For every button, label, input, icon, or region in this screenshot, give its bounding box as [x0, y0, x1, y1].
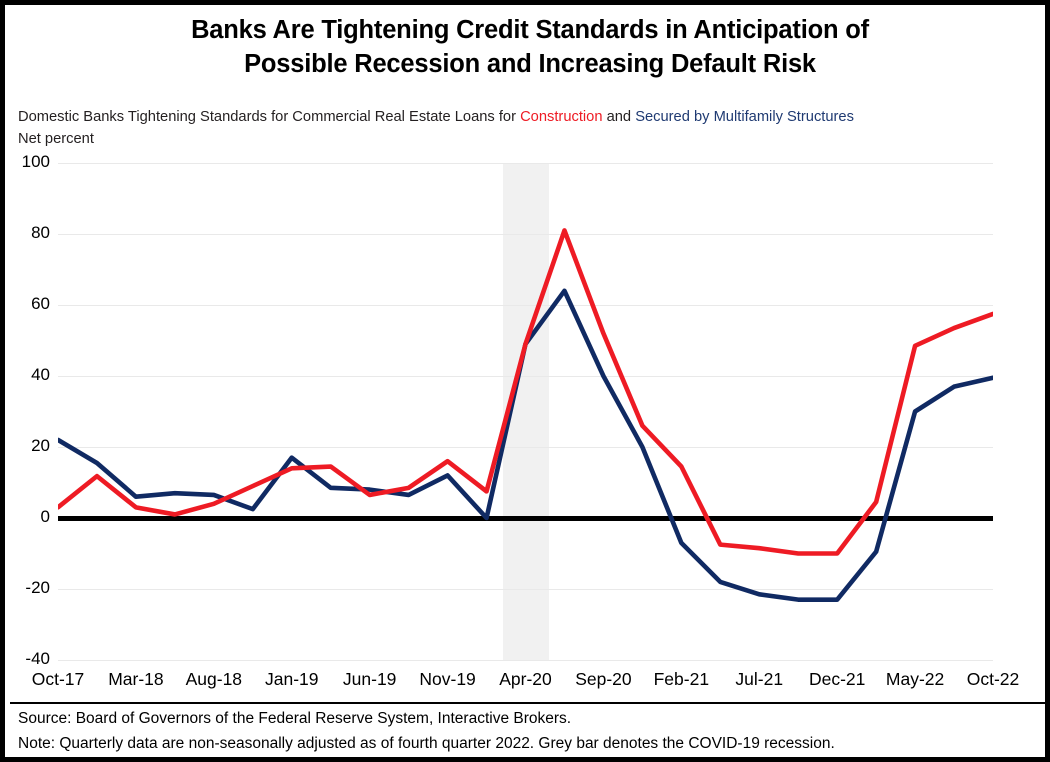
legend-label-multifamily: Secured by Multifamily Structures	[635, 109, 854, 125]
x-tick-label-nov-19: Nov-19	[419, 669, 475, 690]
x-tick-label-oct-22: Oct-22	[967, 669, 1020, 690]
series-lines	[58, 163, 993, 660]
chart-footer: Source: Board of Governors of the Federa…	[18, 706, 1038, 756]
x-tick-label-oct-17: Oct-17	[32, 669, 85, 690]
y-tick-label-100: 100	[5, 152, 50, 172]
y-tick-label--20: -20	[5, 578, 50, 598]
legend-label-construction: Construction	[520, 109, 602, 125]
footer-source: Source: Board of Governors of the Federa…	[18, 706, 1038, 731]
x-tick-label-sep-20: Sep-20	[575, 669, 631, 690]
x-tick-label-mar-18: Mar-18	[108, 669, 163, 690]
chart-title: Banks Are Tightening Credit Standards in…	[5, 13, 1050, 81]
y-axis-unit-label: Net percent	[18, 131, 94, 147]
line-series-construction	[58, 230, 993, 553]
x-tick-label-jul-21: Jul-21	[735, 669, 783, 690]
y-tick-label-60: 60	[5, 294, 50, 314]
y-axis: -40-20020406080100	[5, 155, 58, 675]
y-tick-label-0: 0	[5, 507, 50, 527]
x-tick-label-jan-19: Jan-19	[265, 669, 319, 690]
footer-note: Note: Quarterly data are non-seasonally …	[18, 731, 1038, 756]
x-tick-label-dec-21: Dec-21	[809, 669, 865, 690]
y-tick-label-20: 20	[5, 436, 50, 456]
footer-divider	[10, 702, 1050, 704]
subtitle-text-lead: Domestic Banks Tightening Standards for …	[18, 109, 520, 125]
chart-title-line-1: Banks Are Tightening Credit Standards in…	[5, 13, 1050, 47]
y-tick-label-40: 40	[5, 365, 50, 385]
x-tick-label-feb-21: Feb-21	[654, 669, 709, 690]
subtitle-text-conjunction: and	[603, 109, 636, 125]
x-tick-label-jun-19: Jun-19	[343, 669, 397, 690]
plot-area	[58, 163, 993, 660]
x-tick-label-aug-18: Aug-18	[186, 669, 242, 690]
chart-figure: Banks Are Tightening Credit Standards in…	[0, 0, 1050, 762]
x-axis: Oct-17Mar-18Aug-18Jan-19Jun-19Nov-19Apr-…	[5, 669, 1050, 703]
chart-subtitle: Domestic Banks Tightening Standards for …	[18, 109, 854, 125]
chart-title-line-2: Possible Recession and Increasing Defaul…	[5, 47, 1050, 81]
y-tick-label--40: -40	[5, 649, 50, 669]
gridline--40	[58, 660, 993, 661]
y-tick-label-80: 80	[5, 223, 50, 243]
x-tick-label-may-22: May-22	[886, 669, 944, 690]
x-tick-label-apr-20: Apr-20	[499, 669, 552, 690]
